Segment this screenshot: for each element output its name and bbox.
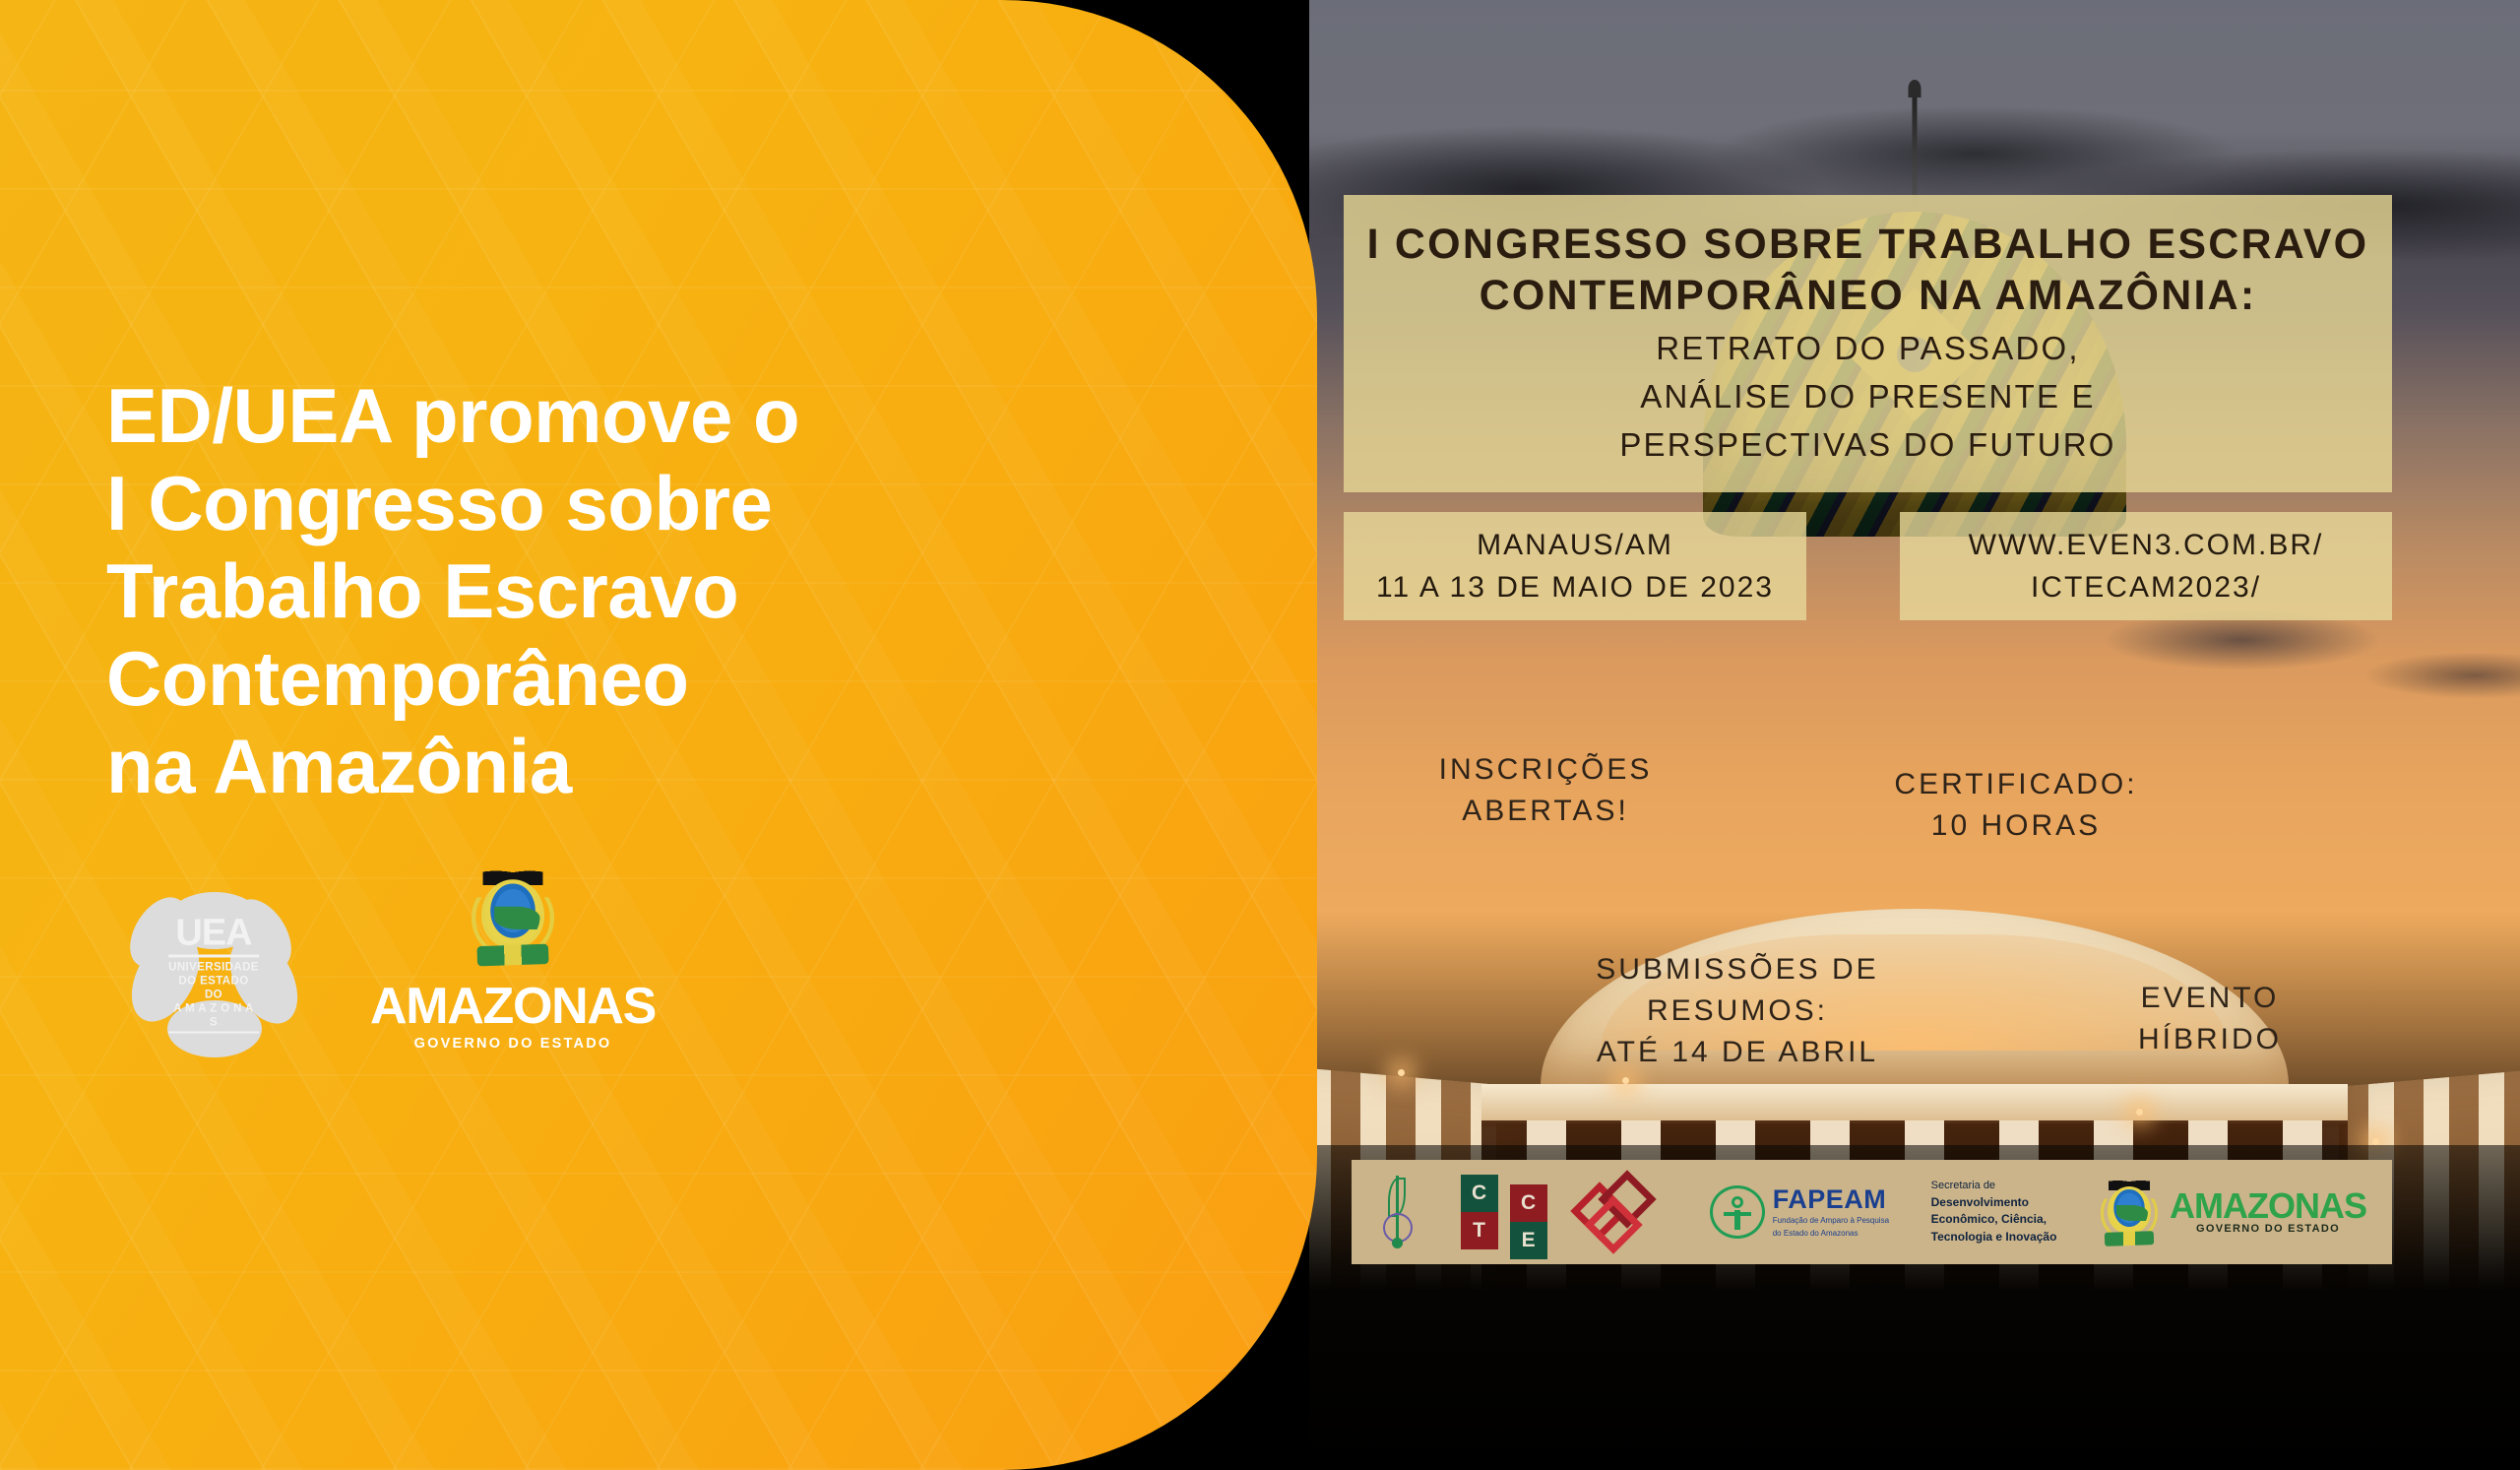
footer-gov-subtitle: GOVERNO DO ESTADO [2170,1223,2366,1235]
sponsor-seedling [1377,1176,1418,1248]
sponsor-amazonas-government: AMAZONAS GOVERNO DO ESTADO [2099,1175,2366,1249]
sponsor-secretaria: Secretaria de Desenvolvimento Econômico,… [1931,1179,2057,1246]
promo-banner: EDUARDO G. RIBEIRO I CONGRESSO SOBRE TRA… [0,0,2520,1470]
secretaria-line1: Secretaria de [1931,1179,2057,1194]
poster-location: MANAUS/AM [1344,524,1806,567]
headline-line-1: I Congresso sobre [106,460,953,547]
fapeam-sub2: do Estado do Amazonas [1773,1229,1889,1239]
ccte-letter-2: T [1461,1212,1498,1249]
callout-2-line1: SUBMISSÕES DE [1596,949,1878,991]
poster-url[interactable]: WWW.EVEN3.COM.BR/ ICTECAM2023/ [1900,512,2392,620]
sponsor-strip: C C T E FAPEAM Fundação de Ampa [1352,1160,2392,1264]
seedling-icon [1377,1176,1418,1248]
head-icon [1732,1196,1743,1208]
shield-icon [481,879,544,948]
poster-subtitle-line3: PERSPECTIVAS DO FUTURO [1363,424,2372,467]
uea-line3: A M A Z O N A S [168,1002,259,1030]
secretaria-line2: Desenvolvimento [1931,1194,2057,1211]
callout-2-line3: ATÉ 14 DE ABRIL [1596,1032,1878,1073]
callout-0-line2: ABERTAS! [1439,791,1653,832]
knot-icon [1577,1175,1668,1249]
uea-logo-icon: UEA UNIVERSIDADE DO ESTADO DO A M A Z O … [126,886,301,1061]
poster-subtitle-line2: ANÁLISE DO PRESENTE E [1363,376,2372,418]
poster-url-line1: WWW.EVEN3.COM.BR/ [1900,524,2392,567]
callout-certificate-hours: CERTIFICADO: 10 HORAS [1849,746,2183,864]
poster-info-row: MANAUS/AM 11 A 13 DE MAIO DE 2023 WWW.EV… [1344,512,2392,620]
ccte-letter-0: C [1461,1175,1498,1212]
headline-line-2: Trabalho Escravo [106,547,953,635]
secretaria-line4: Tecnologia e Inovação [1931,1229,2057,1246]
callout-abstract-submissions: SUBMISSÕES DE RESUMOS: ATÉ 14 DE ABRIL [1531,937,1944,1085]
headline-line-3: Contemporâneo [106,635,953,723]
callout-1-line2: 10 HORAS [1894,805,2137,847]
fapeam-sub1: Fundação de Amparo à Pesquisa [1773,1216,1889,1226]
ribbon-icon [2105,1231,2154,1246]
gov-subtitle: GOVERNO DO ESTADO [414,1036,612,1052]
headline-line-0: ED/UEA promove o [106,372,953,460]
poster-title-box: I CONGRESSO SOBRE TRABALHO ESCRAVO CONTE… [1344,195,2392,492]
sponsor-ccte: C C T E [1461,1175,1536,1249]
amazonas-government-logo: AMAZONAS GOVERNO DO ESTADO [370,896,656,1051]
orange-panel: ED/UEA promove o I Congresso sobre Traba… [0,0,1317,1470]
secretaria-line3: Econômico, Ciência, [1931,1211,2057,1228]
callout-1-line1: CERTIFICADO: [1894,764,2137,805]
sponsor-fapeam: FAPEAM Fundação de Amparo à Pesquisa do … [1710,1185,1889,1239]
ribbon-icon [476,944,548,967]
ccte-icon: C C T E [1461,1175,1536,1249]
fapeam-acronym: FAPEAM [1773,1186,1889,1213]
headline-line-4: na Amazônia [106,723,953,810]
dot-icon [1392,1238,1403,1248]
uea-line2: DO ESTADO DO [168,974,259,1001]
gov-word: AMAZONAS [370,983,656,1031]
uea-line1: UNIVERSIDADE [168,960,259,974]
poster-title-line2: CONTEMPORÂNEO NA AMAZÔNIA: [1363,270,2372,321]
callout-0-line1: INSCRIÇÕES [1439,749,1653,791]
uea-acronym: UEA [168,914,259,957]
ccte-letter-3: E [1510,1222,1547,1259]
body-icon [1734,1210,1740,1230]
ccte-letter-1: C [1510,1184,1547,1222]
logo-row: UEA UNIVERSIDADE DO ESTADO DO A M A Z O … [126,886,656,1061]
poster-url-line2: ICTECAM2023/ [1900,566,2392,609]
poster-subtitle-line1: RETRATO DO PASSADO, [1363,328,2372,370]
amazonas-coat-of-arms-icon [469,863,557,971]
sponsor-knot [1577,1175,1668,1249]
footer-gov-word: AMAZONAS [2170,1189,2366,1223]
page-title: ED/UEA promove o I Congresso sobre Traba… [106,372,953,810]
poster-title-line1: I CONGRESSO SOBRE TRABALHO ESCRAVO [1363,219,2372,270]
poster-location-date: MANAUS/AM 11 A 13 DE MAIO DE 2023 [1344,512,1806,620]
callout-3-line1: EVENTO [2138,978,2282,1019]
callout-3-line2: HÍBRIDO [2138,1019,2282,1060]
amazonas-coat-of-arms-icon [2099,1175,2160,1249]
fapeam-icon [1710,1185,1765,1239]
callout-hybrid-event: EVENTO HÍBRIDO [2057,957,2362,1081]
callout-2-line2: RESUMOS: [1596,991,1878,1032]
poster-dates: 11 A 13 DE MAIO DE 2023 [1344,566,1806,609]
shield-icon [2108,1186,2151,1234]
callout-registrations-open: INSCRIÇÕES ABERTAS! [1383,736,1708,845]
